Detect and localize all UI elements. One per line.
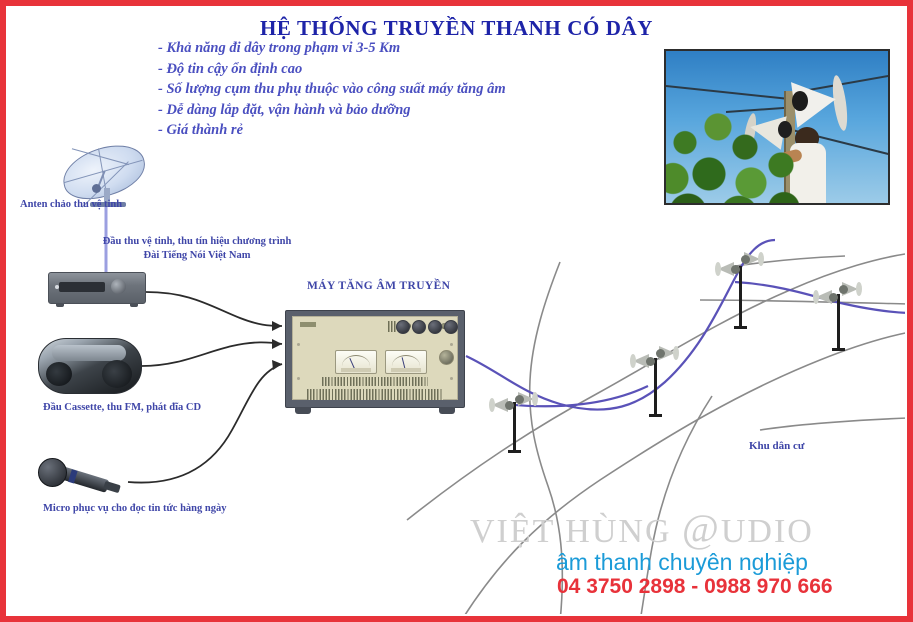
speaker-pole bbox=[633, 346, 693, 418]
residential-area-label: Khu dân cư bbox=[749, 440, 805, 452]
amplifier-knob[interactable] bbox=[412, 320, 426, 334]
horn-driver bbox=[656, 349, 665, 358]
horn-mouth bbox=[673, 346, 679, 360]
pole-base bbox=[734, 326, 747, 329]
cassette-player-icon bbox=[38, 338, 142, 394]
amplifier-foot bbox=[295, 407, 311, 414]
arrow-receiver-to-amp bbox=[272, 321, 282, 331]
arrow-cassette-to-amp bbox=[272, 339, 282, 349]
microphone-icon bbox=[36, 452, 132, 496]
cable-mic-to-amp bbox=[128, 364, 282, 483]
feature-item: - Khả năng đi dây trong phạm vi 3-5 Km bbox=[158, 38, 578, 59]
microphone-label: Micro phục vụ cho đọc tin tức hàng ngày bbox=[43, 503, 226, 514]
amplifier-foot bbox=[439, 407, 455, 414]
pole-base bbox=[508, 450, 521, 453]
amplifier-brand-plate bbox=[300, 322, 316, 327]
feature-item: - Số lượng cụm thu phụ thuộc vào công su… bbox=[158, 79, 578, 100]
horn-mouth bbox=[856, 282, 862, 296]
cassette-label: Đầu Cassette, thu FM, phát đĩa CD bbox=[43, 402, 201, 413]
watermark-text-2: UDIO bbox=[721, 513, 814, 550]
speaker-pole bbox=[492, 392, 552, 452]
speaker-pole bbox=[718, 252, 778, 330]
pole-mast bbox=[513, 402, 516, 452]
watermark-text-1: VIỆT HÙNG bbox=[470, 513, 682, 550]
feature-item: - Giá thành rẻ bbox=[158, 120, 578, 141]
satellite-dish-label: Anten chảo thu vệ tinh bbox=[20, 199, 122, 210]
pole-base bbox=[832, 348, 845, 351]
amplifier-vent-grille bbox=[307, 389, 443, 400]
horn-driver bbox=[829, 293, 838, 302]
tagline: âm thanh chuyên nghiệp bbox=[556, 549, 896, 576]
pole-mast bbox=[837, 294, 840, 350]
cable-cassette-to-amp bbox=[142, 342, 282, 366]
horn-mouth bbox=[630, 354, 636, 368]
horn-driver bbox=[646, 357, 655, 366]
amplifier-front-panel bbox=[292, 316, 458, 400]
amplifier-power-knob[interactable] bbox=[439, 350, 454, 365]
pole-mast bbox=[654, 358, 657, 416]
boombox-speaker-right bbox=[102, 360, 132, 388]
dish-lnb bbox=[92, 184, 101, 193]
phone-number: 04 3750 2898 - 0988 970 666 bbox=[557, 575, 897, 599]
speaker-pole bbox=[816, 282, 876, 352]
watermark: VIỆT HÙNG @UDIO bbox=[470, 505, 890, 549]
loudspeaker-installation-photo bbox=[664, 49, 890, 205]
amplifier-vu-meter bbox=[385, 350, 427, 374]
cable-receiver-to-amp bbox=[146, 292, 282, 326]
pole-base bbox=[649, 414, 662, 417]
amplifier-knob[interactable] bbox=[444, 320, 458, 334]
boombox-top-panel bbox=[52, 345, 126, 361]
amplifier-knob[interactable] bbox=[428, 320, 442, 334]
horn-driver bbox=[741, 255, 750, 264]
receiver-label-line2: Đài Tiếng Nói Việt Nam bbox=[72, 250, 322, 261]
horn-mouth bbox=[758, 252, 764, 266]
amplifier-label: MÁY TĂNG ÂM TRUYỀN bbox=[307, 280, 450, 292]
pole-mast bbox=[739, 266, 742, 328]
boombox-speaker-left bbox=[46, 362, 72, 386]
feature-list: - Khả năng đi dây trong phạm vi 3-5 Km -… bbox=[158, 38, 578, 141]
feature-item: - Độ tin cậy ổn định cao bbox=[158, 59, 578, 80]
watermark-at-icon: @ bbox=[682, 506, 721, 551]
mic-grille bbox=[38, 458, 67, 487]
horn-driver bbox=[505, 401, 514, 410]
amplifier-knob[interactable] bbox=[396, 320, 410, 334]
horn-mouth bbox=[489, 398, 495, 412]
amplifier-icon bbox=[285, 310, 465, 408]
amplifier-vent-grille bbox=[322, 377, 428, 386]
feature-item: - Dễ dàng lắp đặt, vận hành và bảo dưỡng bbox=[158, 100, 578, 121]
receiver-foot bbox=[130, 303, 138, 307]
satellite-receiver-icon bbox=[48, 272, 146, 304]
amplifier-vu-meter bbox=[335, 350, 377, 374]
receiver-knob bbox=[111, 279, 126, 294]
horn-mouth bbox=[813, 290, 819, 304]
photo-tree bbox=[664, 109, 802, 205]
receiver-display bbox=[59, 282, 105, 292]
horn-driver bbox=[731, 265, 740, 274]
photo-horn-large-driver bbox=[792, 91, 808, 111]
poster-canvas: Anten chảo thu vệ tinh Đầu thu vệ tinh, … bbox=[0, 0, 913, 622]
horn-driver bbox=[839, 285, 848, 294]
horn-mouth bbox=[715, 262, 721, 276]
horn-driver bbox=[515, 395, 524, 404]
horn-mouth bbox=[532, 392, 538, 406]
receiver-label-line1: Đầu thu vệ tinh, thu tín hiệu chương trì… bbox=[72, 236, 322, 247]
arrow-mic-to-amp bbox=[272, 360, 282, 370]
receiver-foot bbox=[56, 303, 64, 307]
